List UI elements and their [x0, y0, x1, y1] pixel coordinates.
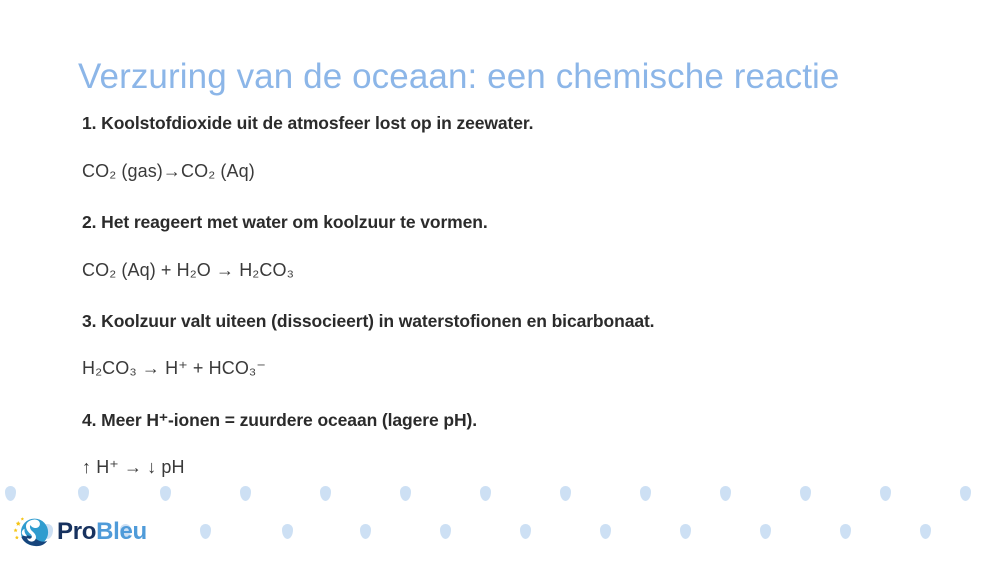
probleu-wordmark: ProBleu [57, 520, 147, 544]
step-equation-1: CO₂ (gas)→CO₂ (Aq) [82, 159, 942, 183]
step-heading-1: 1. Koolstofdioxide uit de atmosfeer lost… [82, 112, 942, 136]
water-droplet-icon [200, 524, 211, 539]
step-heading-4: 4. Meer H⁺-ionen = zuurdere oceaan (lage… [82, 409, 942, 433]
water-droplet-icon [840, 524, 851, 539]
page-title: Verzuring van de oceaan: een chemische r… [78, 55, 938, 99]
step-block: 1. Koolstofdioxide uit de atmosfeer lost… [82, 112, 942, 183]
water-droplet-icon [920, 524, 931, 539]
water-droplet-icon [360, 524, 371, 539]
step-heading-2: 2. Het reageert met water om koolzuur te… [82, 211, 942, 235]
probleu-logo: ProBleu [12, 513, 147, 551]
water-droplet-icon [680, 524, 691, 539]
step-block: 4. Meer H⁺-ionen = zuurdere oceaan (lage… [82, 409, 942, 480]
water-droplet-icon [282, 524, 293, 539]
logo-text-pro: Pro [57, 518, 96, 545]
water-droplet-icon [960, 486, 971, 501]
water-droplet-icon [760, 524, 771, 539]
step-equation-4: ↑ H⁺ → ↓ pH [82, 455, 942, 479]
water-droplet-icon [5, 486, 16, 501]
step-heading-3: 3. Koolzuur valt uiteen (dissocieert) in… [82, 310, 942, 334]
slide-body: 1. Koolstofdioxide uit de atmosfeer lost… [82, 112, 942, 508]
slide-canvas: Verzuring van de oceaan: een chemische r… [0, 0, 1000, 563]
water-droplet-icon [440, 524, 451, 539]
logo-text-bleu: Bleu [96, 518, 147, 545]
step-equation-2: CO₂ (Aq) + H₂O → H₂CO₃ [82, 258, 942, 282]
step-block: 3. Koolzuur valt uiteen (dissocieert) in… [82, 310, 942, 381]
step-block: 2. Het reageert met water om koolzuur te… [82, 211, 942, 282]
step-equation-3: H₂CO₃ → H⁺ + HCO₃⁻ [82, 356, 942, 380]
probleu-globe-icon [12, 513, 50, 551]
water-droplet-icon [520, 524, 531, 539]
water-droplet-icon [600, 524, 611, 539]
